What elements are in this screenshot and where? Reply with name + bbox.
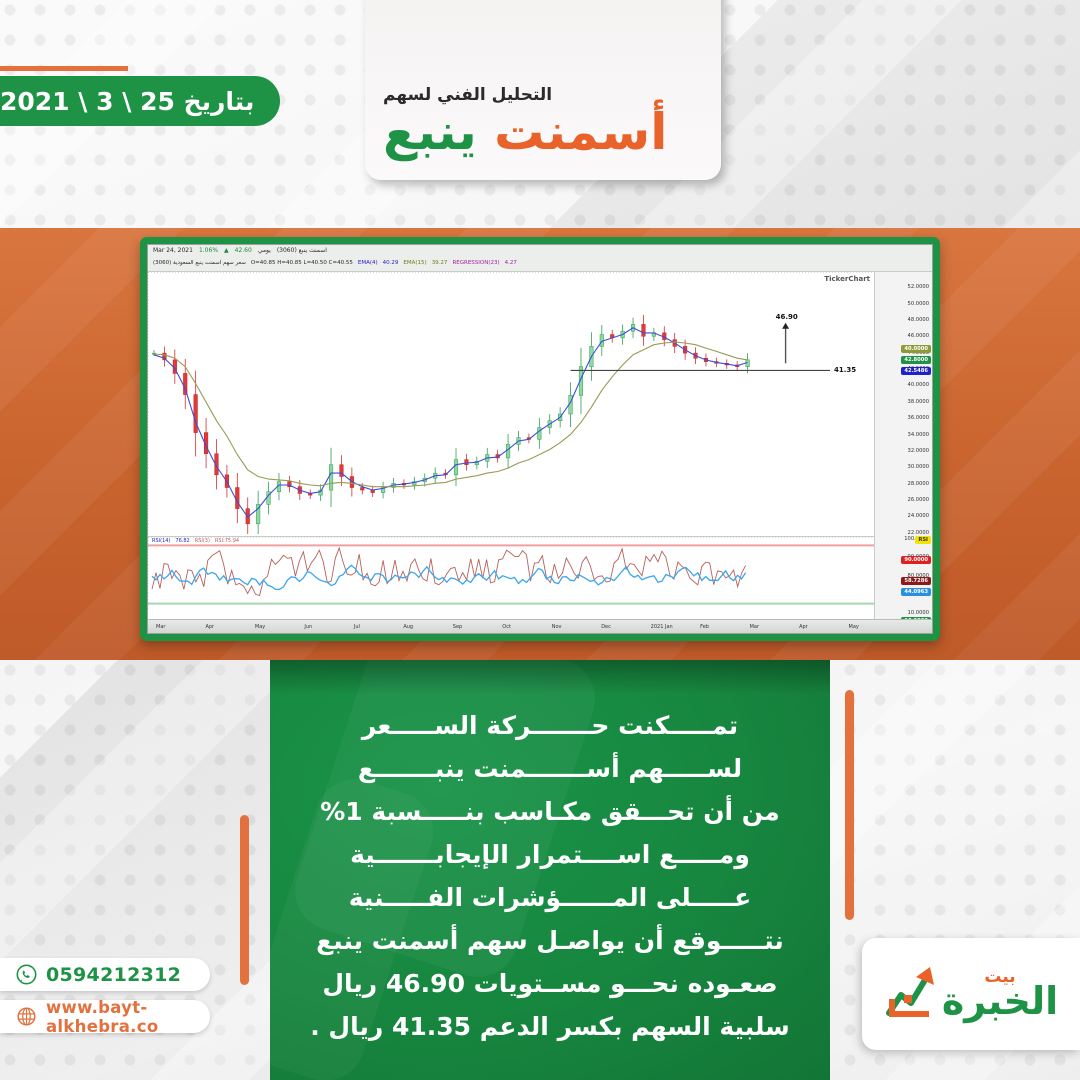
date-badge: بتاريخ 25 \ 3 \ 2021 (0, 76, 280, 126)
price-tick-label: 38.0000 (908, 399, 929, 405)
regression-label: REGRESSION(23) (452, 260, 499, 266)
price-tick-label: 40.0000 (908, 382, 929, 388)
price-tick-label: 46.0000 (908, 333, 929, 339)
rsi-pane: RSI(14) 76.82 RSI(3) RSI:75.94 (148, 536, 874, 611)
price-tick-label: 28.0000 (908, 481, 929, 487)
rsi3-label: RSI(3) (195, 538, 210, 544)
price-tick-label: 32.0000 (908, 448, 929, 454)
change-arrow-icon: ▲ (224, 247, 229, 254)
ema15-label: EMA(15) (403, 260, 426, 266)
title-word-orange: أسمنت (494, 103, 667, 161)
title-word-green: ينبع (383, 103, 477, 161)
rsi14-label: RSI(14) (152, 538, 170, 544)
date-tick-label: Jul (354, 624, 360, 630)
brand-logo: بيت الخبرة (884, 961, 1058, 1027)
rsi-indicator-line: RSI(14) 76.82 RSI(3) RSI:75.94 (152, 538, 239, 544)
price-axis[interactable]: 52.000050.000048.000046.000044.000042.00… (874, 272, 932, 619)
chart-symbol: اسمنت ينبع (3060) (277, 247, 327, 254)
analysis-line: صعـوده نحـــو مســتويات 46.90 ريال (296, 962, 804, 1005)
date-tick-label: Mar (750, 624, 759, 630)
date-tick-label: Nov (552, 624, 562, 630)
date-tick-label: Aug (403, 624, 413, 630)
date-accent-bar (0, 66, 128, 71)
chart-quote-line: اسمنت ينبع (3060) يومي 42.60 ▲ 1.06% Mar… (153, 247, 327, 254)
contact-block: 0594212312 www.bayt-alkhebra.co (0, 958, 210, 1042)
price-tick-label: 26.0000 (908, 497, 929, 503)
date-tick-label: Apr (205, 624, 214, 630)
ema4-value: 40.29 (383, 260, 399, 266)
date-tick-label: Feb (700, 624, 709, 630)
analysis-line: سلبية السهم بكسر الدعم 41.35 ريال . (296, 1005, 804, 1048)
date-tick-label: Mar (156, 624, 165, 630)
date-tick-label: May (255, 624, 265, 630)
analysis-line: لســـــهم أســـــــمنت ينبـــــــع (296, 747, 804, 790)
date-tick-label: Apr (799, 624, 808, 630)
date-tick-label: 2021 Jan (651, 624, 673, 630)
chart-canvas[interactable]: اسمنت ينبع (3060) يومي 42.60 ▲ 1.06% Mar… (147, 244, 933, 634)
chart-timeframe: يومي (258, 247, 271, 254)
rsi-tag-blue: 44.0963 (901, 588, 931, 596)
price-tag-blue: 42.5486 (901, 367, 931, 375)
analysis-line: ومـــــع اســــتمرار الإيجابـــــــية (296, 833, 804, 876)
analysis-line: عـــــلى المــــــؤشرات الفـــــنية (296, 876, 804, 919)
poster-root: بتاريخ 25 \ 3 \ 2021 التحليل الفني لسهم … (0, 0, 1080, 1080)
chart-ohlc-values: O=40.85 H=40.85 L=40.50 C=40.55 (251, 260, 353, 266)
rsi14-value: 76.82 (175, 538, 189, 544)
price-tick-label: 24.0000 (908, 513, 929, 519)
chart-frame: اسمنت ينبع (3060) يومي 42.60 ▲ 1.06% Mar… (140, 237, 940, 641)
date-tick-label: Dec (601, 624, 611, 630)
price-grid (148, 272, 874, 534)
target-annotation-label: 46.90 (776, 313, 798, 321)
brand-logo-card[interactable]: بيت الخبرة (862, 938, 1080, 1050)
page-title: أسمنت ينبع (383, 107, 667, 158)
chart-change-pct: 1.06% (199, 247, 218, 254)
rsi-tag-red: 90.0000 (901, 556, 931, 564)
phone-number: 0594212312 (46, 964, 181, 986)
rsi-tag-darkred: 58.7286 (901, 577, 931, 585)
website-url: www.bayt-alkhebra.co (46, 998, 210, 1036)
logo-word-big: الخبرة (942, 982, 1058, 1020)
date-axis[interactable]: MarAprMayJunJulAugSepOctNovDec2021 JanFe… (148, 619, 932, 633)
price-tick-label: 30.0000 (908, 464, 929, 470)
chart-date: Mar 24, 2021 (153, 247, 193, 254)
globe-icon (16, 1006, 37, 1027)
ema4-label: EMA(4) (358, 260, 378, 266)
chart-indicator-line: سعر سهم اسمنت ينبع السعودية (3060) O=40.… (153, 260, 517, 266)
price-tag-green: 42.8000 (901, 356, 931, 364)
price-tick-label: 22.0000 (908, 530, 929, 536)
growth-arrow-icon (884, 961, 938, 1027)
ema15-value: 39.27 (432, 260, 448, 266)
price-tick-label: 50.0000 (908, 301, 929, 307)
date-tick-label: Oct (502, 624, 511, 630)
accent-bar-right (845, 690, 854, 920)
price-tick-label: 48.0000 (908, 317, 929, 323)
header-card: التحليل الفني لسهم أسمنت ينبع (365, 0, 721, 180)
date-tick-label: Jun (304, 624, 312, 630)
whatsapp-pill[interactable]: 0594212312 (0, 958, 210, 991)
rsi-tick-label: 10.0000 (908, 610, 929, 616)
analysis-text: تمـــــكنت حـــــــركة الســـــعرلســـــ… (270, 660, 830, 1048)
analysis-line: من أن تحـــقق مكـاسب بنـــــسبة 1% (296, 790, 804, 833)
date-tick-label: Sep (453, 624, 462, 630)
website-pill[interactable]: www.bayt-alkhebra.co (0, 1000, 210, 1033)
accent-bar-left (240, 815, 249, 985)
price-tick-label: 52.0000 (908, 284, 929, 290)
analysis-text-panel: تمـــــكنت حـــــــركة الســـــعرلســـــ… (270, 660, 830, 1080)
regression-value: 4.27 (505, 260, 517, 266)
price-tick-label: 34.0000 (908, 432, 929, 438)
rsi-grid (148, 537, 874, 611)
rsi-tag-yellow: RSI (915, 536, 931, 544)
price-pane: TickerChart 46.90 41.35 (148, 272, 874, 534)
rsi3-value: RSI:75.94 (215, 538, 239, 544)
price-tick-label: 36.0000 (908, 415, 929, 421)
chart-last-price: 42.60 (235, 247, 252, 254)
chart-ohlc-symbol: سعر سهم اسمنت ينبع السعودية (3060) (153, 260, 246, 266)
date-tick-label: May (849, 624, 859, 630)
analysis-line: نتـــــوقع أن يواصـل سهم أسمنت ينبع (296, 919, 804, 962)
price-tag-olive: 40.0000 (901, 345, 931, 353)
brand-logo-text: بيت الخبرة (942, 969, 1058, 1020)
whatsapp-icon (16, 964, 37, 985)
header-subtitle: التحليل الفني لسهم (383, 85, 552, 105)
support-annotation-label: 41.35 (834, 366, 856, 374)
analysis-line: تمـــــكنت حـــــــركة الســـــعر (296, 704, 804, 747)
tickerchart-watermark: TickerChart (824, 275, 870, 283)
